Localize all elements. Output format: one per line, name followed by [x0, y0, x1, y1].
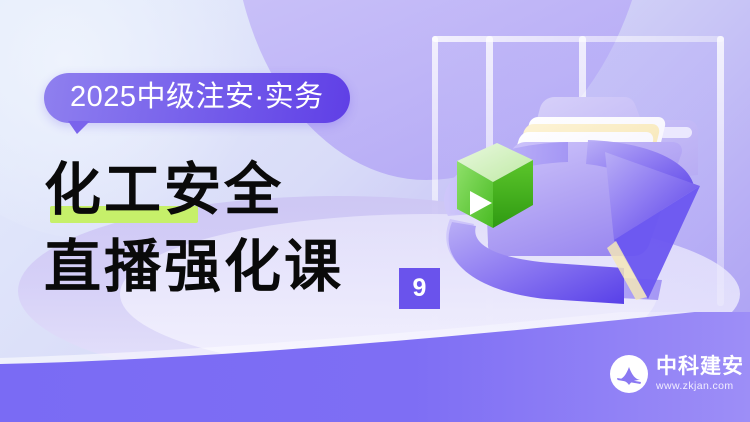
episode-badge: 9 [399, 268, 440, 309]
headline-line-1: 化工安全 [44, 152, 344, 228]
headline-line-2: 直播强化课 [44, 228, 344, 306]
headline-row-1: 化工安全 [44, 152, 344, 228]
page-title: 化工安全 直播强化课 [44, 152, 344, 306]
brand-logo-text: 中科建安 www.zkjan.com [656, 356, 744, 392]
headline-row-2: 直播强化课 [44, 228, 344, 306]
brand-logo: 中科建安 www.zkjan.com [610, 355, 744, 393]
course-tag-tail-icon [68, 121, 90, 134]
course-tag: 2025中级注安·实务 [44, 73, 350, 123]
brand-name: 中科建安 [656, 356, 744, 377]
brand-logo-mark-icon [610, 355, 648, 393]
course-banner: 2025中级注安·实务 化工安全 直播强化课 9 中科建安 www.zkjan.… [0, 0, 750, 422]
course-tag-label: 2025中级注安·实务 [44, 73, 350, 123]
brand-url: www.zkjan.com [656, 381, 744, 392]
course-illustration [400, 0, 750, 360]
